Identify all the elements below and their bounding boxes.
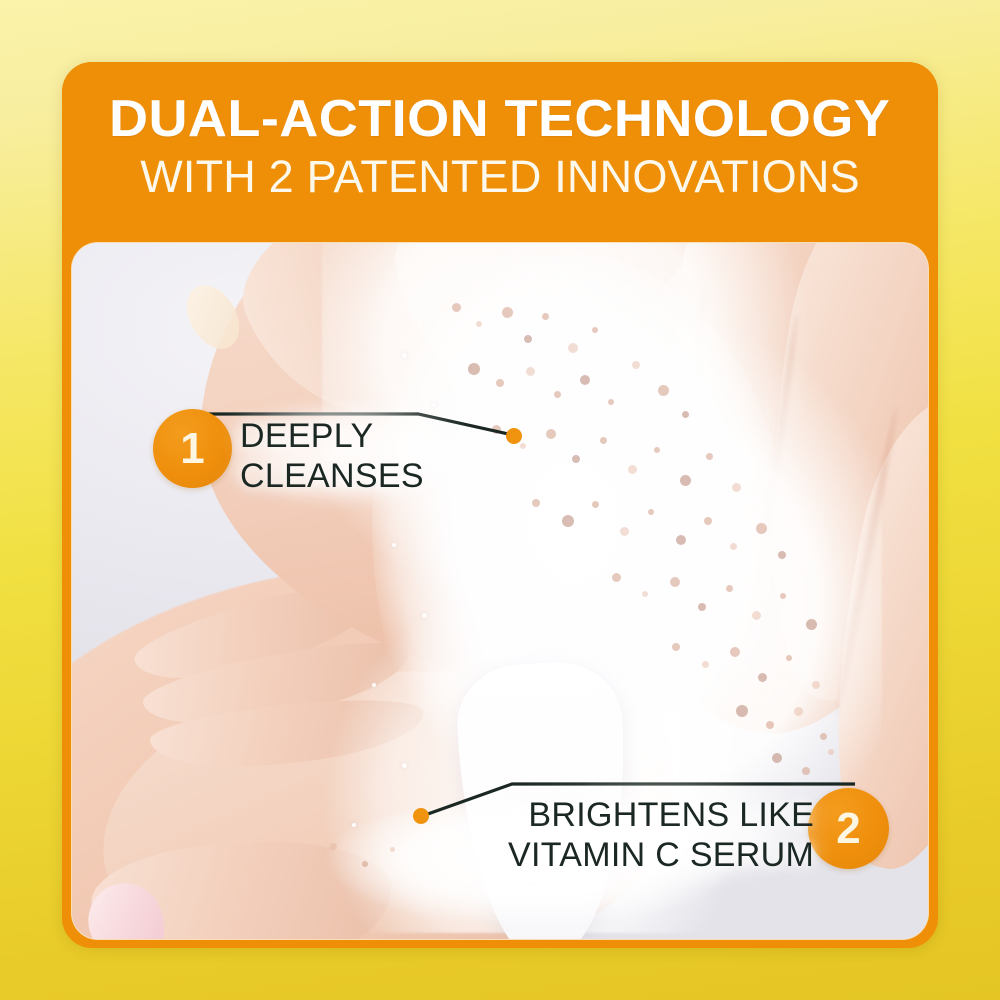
page-subtitle: WITH 2 PATENTED INNOVATIONS [140,151,860,203]
product-infographic: DUAL-ACTION TECHNOLOGY WITH 2 PATENTED I… [0,0,1000,1000]
callout-1-label-line-1: DEEPLY [240,416,424,456]
header-band: DUAL-ACTION TECHNOLOGY WITH 2 PATENTED I… [62,62,938,239]
callout-1-label: DEEPLY CLEANSES [240,416,424,496]
page-title: DUAL-ACTION TECHNOLOGY [109,90,890,148]
callout-1-label-line-2: CLEANSES [240,456,424,496]
callout-2-label-line-2: VITAMIN C SERUM [508,835,814,875]
callout-badge-1[interactable]: 1 [153,409,232,488]
callout-2-label-line-1: BRIGHTENS LIKE [508,795,814,835]
callout-2-label: BRIGHTENS LIKE VITAMIN C SERUM [508,795,814,875]
callout-badge-2[interactable]: 2 [808,788,889,869]
